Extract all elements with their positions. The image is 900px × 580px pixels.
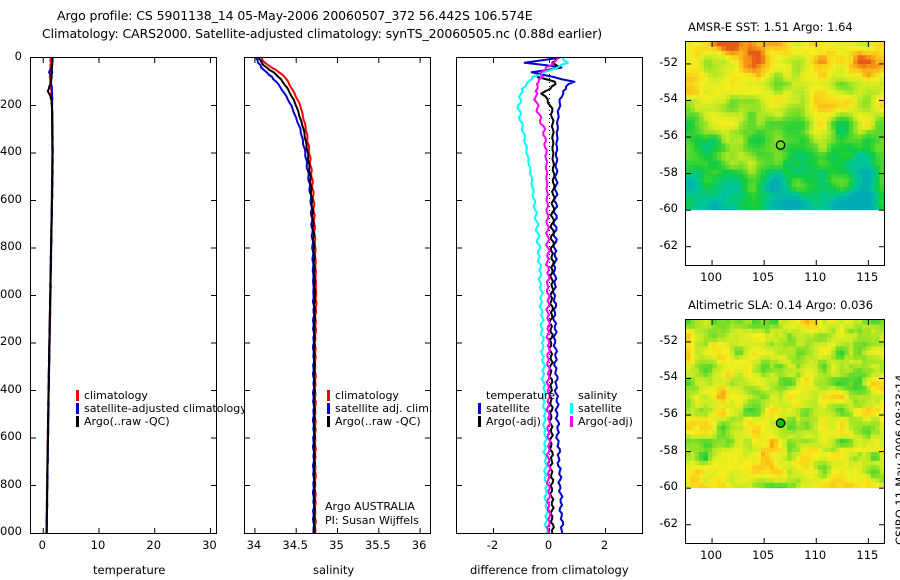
legend-item-label: Argo(..raw -QC) xyxy=(335,415,421,428)
difference-plot-panel xyxy=(456,57,643,534)
difference-legend-temperature: temperaturesatelliteArgo(-adj) xyxy=(478,389,555,428)
map-lat-tick-label: -62 xyxy=(659,238,678,252)
x-tick-label: 2 xyxy=(601,538,608,552)
depth-tick-label: 2000 xyxy=(0,524,22,538)
depth-tick-label: 1000 xyxy=(0,287,22,301)
legend-item: climatology xyxy=(76,389,247,402)
legend-color-swatch xyxy=(327,403,330,414)
legend-color-swatch xyxy=(327,416,330,427)
legend-item-label: satellite xyxy=(486,402,530,415)
map-lon-tick-label: 100 xyxy=(700,270,722,284)
x-tick-label: 35 xyxy=(329,538,344,552)
map-lat-tick-label: -52 xyxy=(659,55,678,69)
credit-pi: PI: Susan Wijffels xyxy=(325,514,419,528)
credit-agency: Argo AUSTRALIA xyxy=(325,500,419,514)
map-lon-tick-label: 100 xyxy=(700,548,722,562)
sst-map-title: AMSR-E SST: 1.51 Argo: 1.64 xyxy=(688,20,853,34)
temperature-legend: climatologysatellite-adjusted climatolog… xyxy=(76,389,247,428)
depth-tick-label: 1600 xyxy=(0,429,22,443)
map-lat-tick-label: -54 xyxy=(659,369,678,383)
depth-tick-label: 600 xyxy=(0,192,22,206)
x-tick-label: -2 xyxy=(487,538,498,552)
legend-color-swatch xyxy=(76,390,79,401)
page-title-line1: Argo profile: CS 5901138_14 05-May-2006 … xyxy=(57,8,533,23)
sla-map xyxy=(685,319,885,544)
legend-item: Argo(-adj) xyxy=(570,415,633,428)
legend-item: satellite xyxy=(570,402,633,415)
credit-block: Argo AUSTRALIA PI: Susan Wijffels xyxy=(325,500,419,528)
x-tick-label: 30 xyxy=(202,538,217,552)
legend-item-label: Argo(..raw -QC) xyxy=(84,415,170,428)
map-lat-tick-label: -62 xyxy=(659,516,678,530)
legend-heading: temperature xyxy=(478,389,555,402)
legend-item: climatology xyxy=(327,389,432,402)
difference-axis-label: difference from climatology xyxy=(470,563,629,577)
sst-map-raster xyxy=(686,42,884,265)
legend-color-swatch xyxy=(76,403,79,414)
legend-color-swatch xyxy=(76,416,79,427)
sst-map xyxy=(685,41,885,266)
x-tick-label: 35.5 xyxy=(365,538,391,552)
csiro-timestamp: CSIRO 11-May-2006 08:33:14 xyxy=(893,375,900,546)
map-lat-tick-label: -58 xyxy=(659,443,678,457)
map-lat-tick-label: -58 xyxy=(659,165,678,179)
legend-item-label: Argo(-adj) xyxy=(486,415,541,428)
legend-item-label: satellite-adjusted climatology xyxy=(84,402,247,415)
salinity-curves xyxy=(245,58,430,533)
temperature-curves xyxy=(31,58,216,533)
legend-color-swatch xyxy=(478,416,481,427)
depth-tick-label: 1800 xyxy=(0,477,22,491)
map-lat-tick-label: -60 xyxy=(659,201,678,215)
page-title-line2: Climatology: CARS2000. Satellite-adjuste… xyxy=(42,26,602,41)
legend-item: Argo(-adj) xyxy=(478,415,555,428)
legend-item-label: Argo(-adj) xyxy=(578,415,633,428)
difference-legend-salinity: salinitysatelliteArgo(-adj) xyxy=(570,389,633,428)
legend-item: satellite xyxy=(478,402,555,415)
legend-item: Argo(..raw -QC) xyxy=(327,415,432,428)
salinity-plot-panel xyxy=(244,57,431,534)
map-lon-tick-label: 105 xyxy=(752,548,774,562)
depth-tick-label: 200 xyxy=(0,97,22,111)
temperature-axis-label: temperature xyxy=(93,563,165,577)
map-lon-tick-label: 110 xyxy=(804,548,826,562)
depth-tick-label: 1200 xyxy=(0,334,22,348)
legend-item: Argo(..raw -QC) xyxy=(76,415,247,428)
legend-item: satellite-adjusted climatology xyxy=(76,402,247,415)
legend-item-label: climatology xyxy=(84,389,148,402)
x-tick-label: 20 xyxy=(146,538,161,552)
legend-item-label: climatology xyxy=(335,389,399,402)
map-lon-tick-label: 110 xyxy=(804,270,826,284)
depth-tick-label: 800 xyxy=(0,239,22,253)
x-tick-label: 34.5 xyxy=(282,538,308,552)
x-tick-label: 0 xyxy=(39,538,46,552)
salinity-axis-label: salinity xyxy=(313,563,354,577)
legend-heading: salinity xyxy=(570,389,633,402)
legend-color-swatch xyxy=(478,403,481,414)
map-lat-tick-label: -52 xyxy=(659,333,678,347)
x-tick-label: 36 xyxy=(412,538,427,552)
legend-color-swatch xyxy=(570,403,573,414)
sla-map-title: Altimetric SLA: 0.14 Argo: 0.036 xyxy=(688,298,873,312)
map-lat-tick-label: -56 xyxy=(659,128,678,142)
depth-tick-label: 400 xyxy=(0,144,22,158)
map-lon-tick-label: 115 xyxy=(856,548,878,562)
map-lon-tick-label: 105 xyxy=(752,270,774,284)
legend-color-swatch xyxy=(327,390,330,401)
depth-tick-label: 0 xyxy=(15,49,22,63)
map-lon-tick-label: 115 xyxy=(856,270,878,284)
sla-map-raster xyxy=(686,320,884,543)
map-lat-tick-label: -56 xyxy=(659,406,678,420)
map-lat-tick-label: -60 xyxy=(659,479,678,493)
legend-item-label: satellite adj. clim. xyxy=(335,402,432,415)
x-tick-label: 10 xyxy=(91,538,106,552)
temperature-plot-panel xyxy=(30,57,217,534)
depth-tick-label: 1400 xyxy=(0,382,22,396)
legend-item: satellite adj. clim. xyxy=(327,402,432,415)
legend-color-swatch xyxy=(570,416,573,427)
x-tick-label: 0 xyxy=(545,538,552,552)
legend-item-label: satellite xyxy=(578,402,622,415)
x-tick-label: 34 xyxy=(247,538,262,552)
salinity-legend: climatologysatellite adj. clim.Argo(..ra… xyxy=(327,389,432,428)
difference-curves xyxy=(457,58,642,533)
map-lat-tick-label: -54 xyxy=(659,91,678,105)
